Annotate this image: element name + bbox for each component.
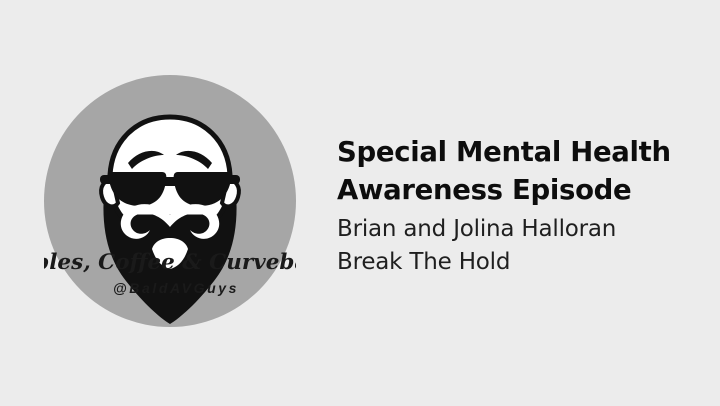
episode-subtitle: Brian and Jolina Halloran Break The Hold [337, 213, 702, 279]
logo-brand-script: Cables, Coffee & Curveballs [44, 250, 296, 275]
episode-card: Cables, Coffee & Curveballs @BaldAVGuys … [0, 0, 720, 406]
logo-artwork: Cables, Coffee & Curveballs @BaldAVGuys [44, 75, 296, 327]
episode-text-block: Special Mental Health Awareness Episode … [337, 133, 702, 279]
logo-handle: @BaldAVGuys [113, 280, 239, 296]
podcast-logo[interactable]: Cables, Coffee & Curveballs @BaldAVGuys [44, 75, 296, 327]
episode-title: Special Mental Health Awareness Episode [337, 133, 702, 209]
